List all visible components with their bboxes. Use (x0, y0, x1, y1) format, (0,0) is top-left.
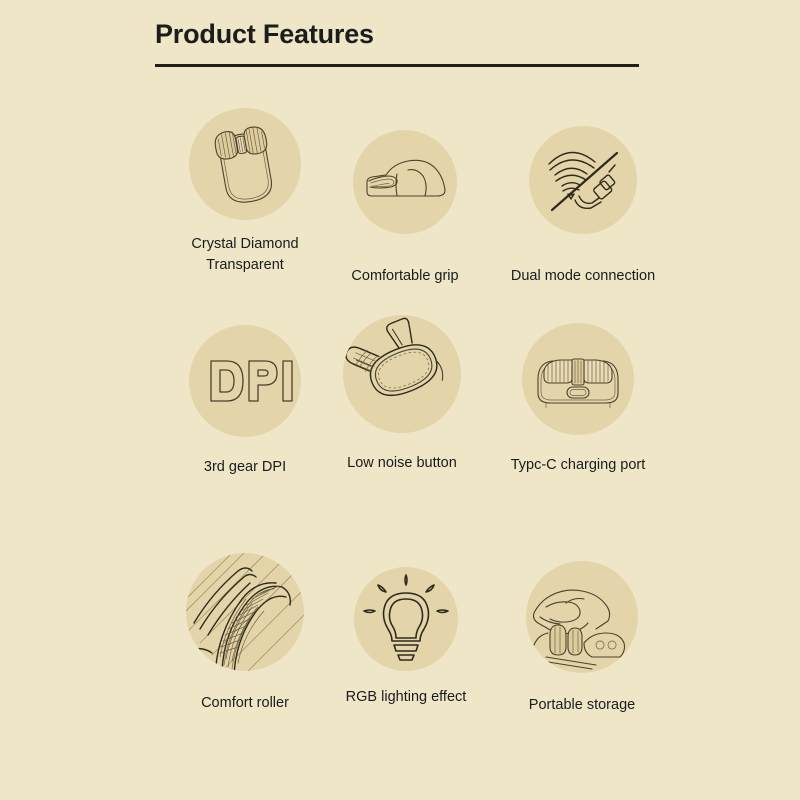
feature-item-low-noise-button[interactable]: Low noise button (322, 315, 482, 474)
feature-item-rgb-lighting[interactable]: RGB lighting effect (326, 567, 486, 708)
features-grid: Crystal Diamond Transparent (0, 108, 800, 773)
light-bulb-icon (354, 567, 458, 671)
feature-label: Crystal Diamond Transparent (191, 234, 298, 275)
dpi-text-icon (189, 325, 301, 437)
feature-label: Comfortable grip (351, 266, 458, 287)
icon-circle (354, 567, 458, 671)
feature-label: 3rd gear DPI (204, 457, 286, 478)
mouse-front-usbc-icon (522, 323, 634, 435)
icon-circle (353, 130, 457, 234)
feature-item-comfort-roller[interactable]: Comfort roller (160, 553, 330, 714)
feature-row: Crystal Diamond Transparent (0, 108, 800, 323)
hand-pocket-storage-icon (526, 561, 638, 673)
feature-label: Typc-C charging port (511, 455, 646, 476)
icon-circle (343, 315, 461, 433)
mouse-button-closeup-icon (343, 315, 461, 433)
feature-item-dpi[interactable]: 3rd gear DPI (160, 325, 330, 478)
title-divider (155, 64, 639, 67)
feature-row: Comfort roller (0, 553, 800, 773)
scroll-wheel-closeup-icon (186, 553, 304, 671)
feature-item-usbc-port[interactable]: Typc-C charging port (488, 323, 668, 476)
feature-label: Portable storage (529, 695, 635, 716)
icon-circle (526, 561, 638, 673)
feature-label: Low noise button (347, 453, 457, 474)
wifi-usb-dual-mode-icon (529, 126, 637, 234)
feature-label: Dual mode connection (511, 266, 655, 287)
product-features-page: Product Features (0, 0, 800, 800)
feature-item-comfortable-grip[interactable]: Comfortable grip (325, 130, 485, 287)
page-header: Product Features (155, 18, 641, 67)
icon-circle (189, 108, 301, 220)
icon-circle (529, 126, 637, 234)
page-title: Product Features (155, 18, 641, 50)
feature-item-crystal-diamond[interactable]: Crystal Diamond Transparent (160, 108, 330, 275)
feature-item-portable-storage[interactable]: Portable storage (492, 561, 672, 716)
feature-item-dual-mode[interactable]: Dual mode connection (493, 126, 673, 287)
hand-on-mouse-icon (353, 130, 457, 234)
icon-circle (522, 323, 634, 435)
mouse-top-view-icon (189, 108, 301, 220)
feature-label: RGB lighting effect (346, 687, 467, 708)
feature-row: 3rd gear DPI (0, 323, 800, 553)
feature-label: Comfort roller (201, 693, 289, 714)
icon-circle (189, 325, 301, 437)
icon-circle (186, 553, 304, 671)
